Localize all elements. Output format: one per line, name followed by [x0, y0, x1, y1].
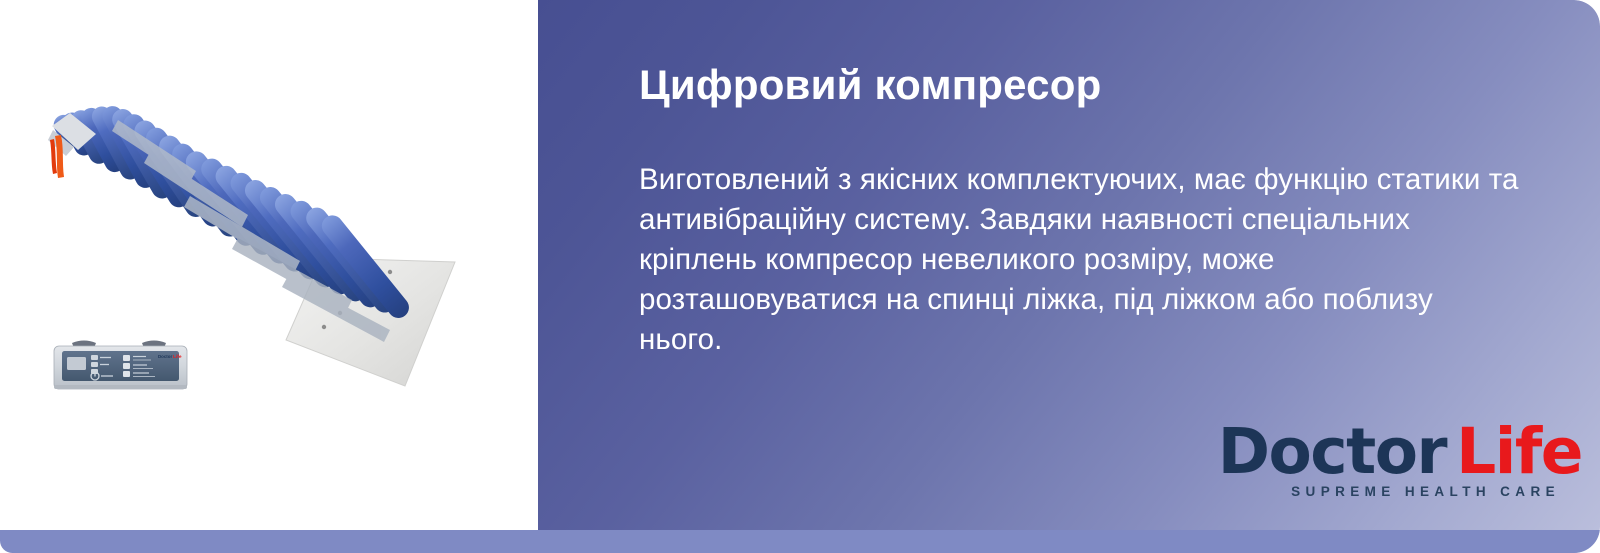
mattress-illustration: Doctor Life — [0, 0, 538, 553]
svg-text:Doctor: Doctor — [158, 354, 172, 359]
bottom-accent-bar — [0, 530, 1600, 553]
logo-wordmark: DoctorLife — [1218, 420, 1582, 483]
logo-word-doctor: Doctor — [1218, 415, 1446, 488]
product-description: Виготовлений з якісних комплектуючих, ма… — [639, 160, 1519, 360]
compressor-unit: Doctor Life — [54, 341, 187, 390]
product-banner: Doctor Life Цифровий компресор Виготовле… — [0, 0, 1600, 553]
brand-logo: DoctorLife SUPREME HEALTH CARE — [1218, 420, 1582, 499]
page-title: Цифровий компресор — [639, 62, 1101, 108]
svg-text:Life: Life — [173, 354, 182, 360]
product-image: Doctor Life — [0, 0, 538, 553]
logo-word-life: Life — [1456, 415, 1582, 488]
